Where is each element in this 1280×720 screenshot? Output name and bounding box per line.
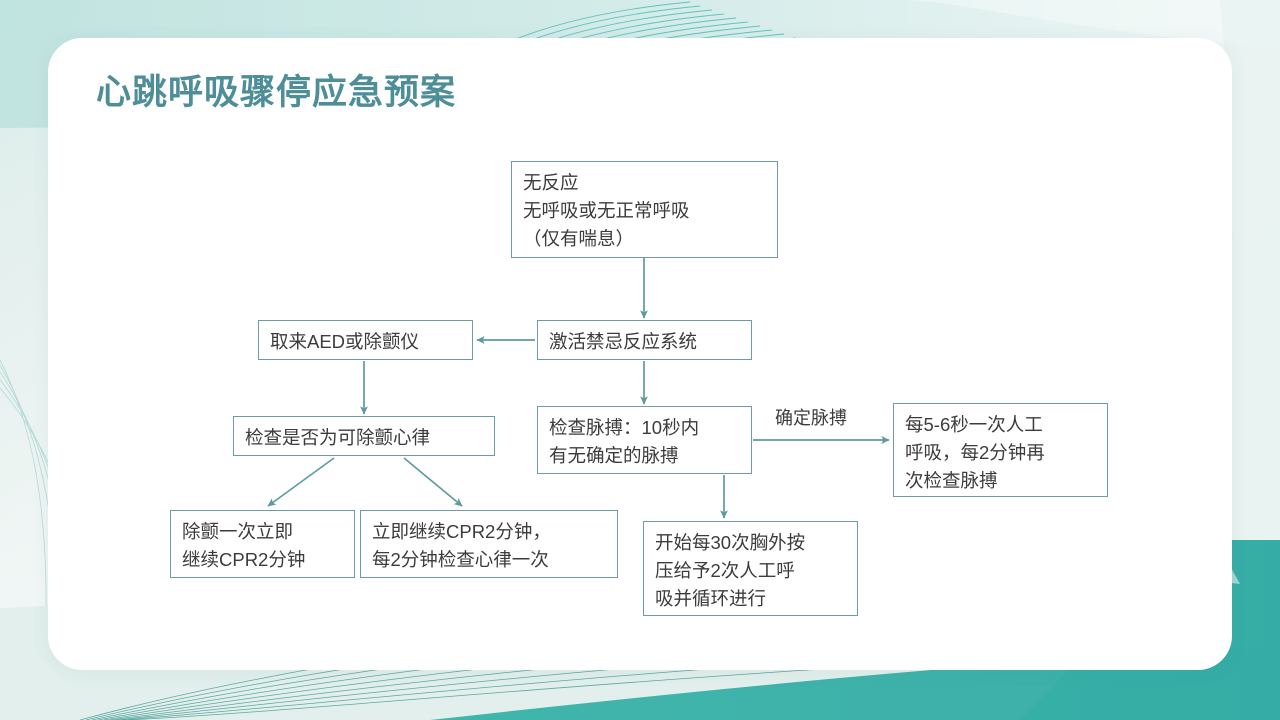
node-no-response[interactable]: 无反应 无呼吸或无正常呼吸 （仅有喘息） <box>511 161 778 258</box>
node-continue-cpr[interactable]: 立即继续CPR2分钟， 每2分钟检查心律一次 <box>360 510 618 578</box>
edge-label-pulse-confirmed: 确定脉搏 <box>775 404 847 430</box>
edge-rhythm-to-defib <box>268 458 334 506</box>
edge-rhythm-to-cpr <box>404 458 462 506</box>
node-compressions-cycle[interactable]: 开始每30次胸外按 压给予2次人工呼 吸并循环进行 <box>643 521 858 616</box>
flowchart: 无反应 无呼吸或无正常呼吸 （仅有喘息） 激活禁忌反应系统 取来AED或除颤仪 … <box>0 0 1280 720</box>
node-check-shockable-rhythm[interactable]: 检查是否为可除颤心律 <box>233 416 495 456</box>
slide-canvas: 心跳呼吸骤停应急预案 <box>0 0 1280 720</box>
node-fetch-aed[interactable]: 取来AED或除颤仪 <box>258 320 473 360</box>
node-activate-system[interactable]: 激活禁忌反应系统 <box>537 320 752 360</box>
flowchart-edges <box>0 0 1280 720</box>
node-rescue-breathing[interactable]: 每5-6秒一次人工 呼吸，每2分钟再 次检查脉搏 <box>893 403 1108 497</box>
node-defib-once[interactable]: 除颤一次立即 继续CPR2分钟 <box>170 510 355 578</box>
node-check-pulse[interactable]: 检查脉搏：10秒内 有无确定的脉搏 <box>537 406 752 474</box>
